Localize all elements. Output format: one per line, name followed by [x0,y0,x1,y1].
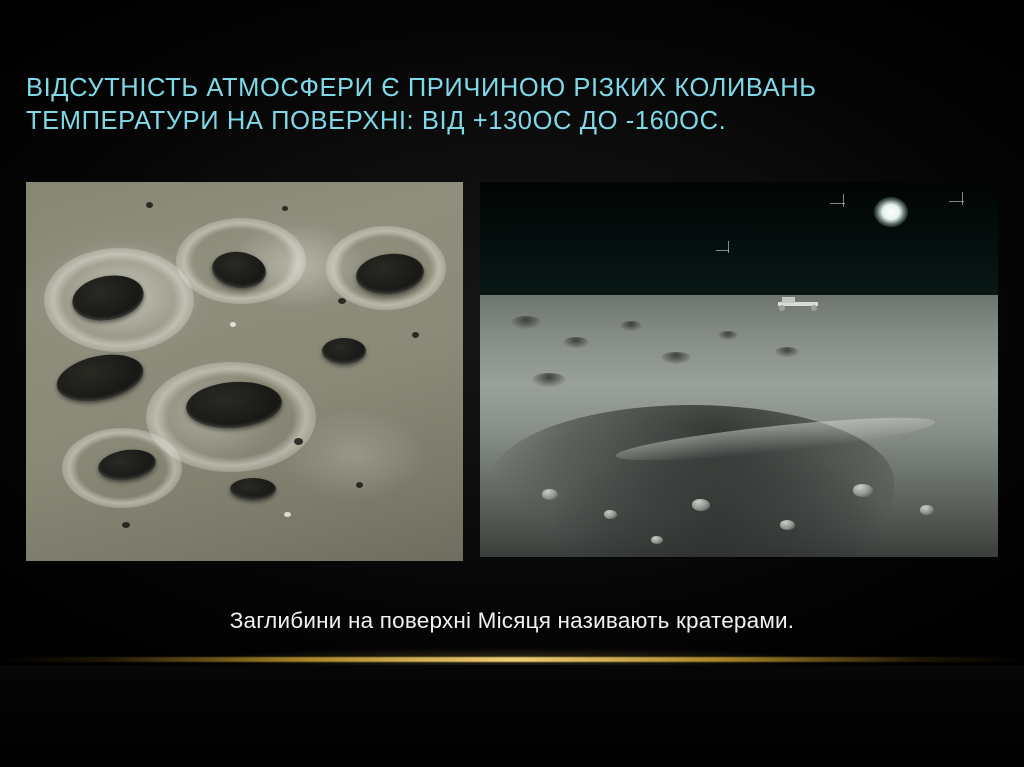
lunar-ground [480,295,998,558]
small-crater [511,316,541,329]
small-crater [718,331,738,340]
reseau-mark [843,194,844,207]
boulder [604,510,617,519]
small-crater [620,321,642,331]
bright-surface-rock [284,512,291,517]
reseau-mark [728,241,729,253]
small-crater [661,352,691,364]
rover-antenna-dish [782,297,795,303]
slide-caption: Заглибини на поверхні Місяця називають к… [0,608,1024,634]
boulder [542,489,558,500]
boulder [651,536,663,544]
sun-flare [874,197,908,227]
surface-rock [338,298,346,304]
lunar-surface-craters-photo [26,182,463,561]
slide-title: ВІДСУТНІСТЬ АТМОСФЕРИ Є ПРИЧИНОЮ РІЗКИХ … [26,72,986,138]
surface-rock [146,202,153,208]
title-line-2: ТЕМПЕРАТУРИ НА ПОВЕРХНІ: ВІД +130ОС ДО -… [26,105,986,138]
rover-wheel [811,305,817,311]
title-line-1: ВІДСУТНІСТЬ АТМОСФЕРИ Є ПРИЧИНОЮ РІЗКИХ … [26,72,986,105]
surface-rock [412,332,419,338]
presentation-slide: ВІДСУТНІСТЬ АТМОСФЕРИ Є ПРИЧИНОЮ РІЗКИХ … [0,0,1024,767]
bottom-fade [0,665,1024,767]
rover-wheel [779,305,785,311]
small-crater [775,347,799,357]
surface-rock [282,206,288,211]
surface-rock [294,438,303,445]
lunar-roving-vehicle [778,296,820,312]
boulder [920,505,934,515]
surface-rock [356,482,363,488]
reseau-mark [962,192,963,205]
apollo-crater-rover-photo [480,182,998,557]
black-lunar-sky [480,182,998,310]
crater [52,347,147,408]
small-crater [563,337,589,348]
crater [230,478,276,500]
bright-surface-rock [230,322,236,327]
gold-divider [0,657,1024,662]
boulder [853,484,873,497]
images-row [0,182,1024,572]
crater [322,338,366,364]
surface-rock [122,522,130,528]
small-crater [532,373,566,387]
